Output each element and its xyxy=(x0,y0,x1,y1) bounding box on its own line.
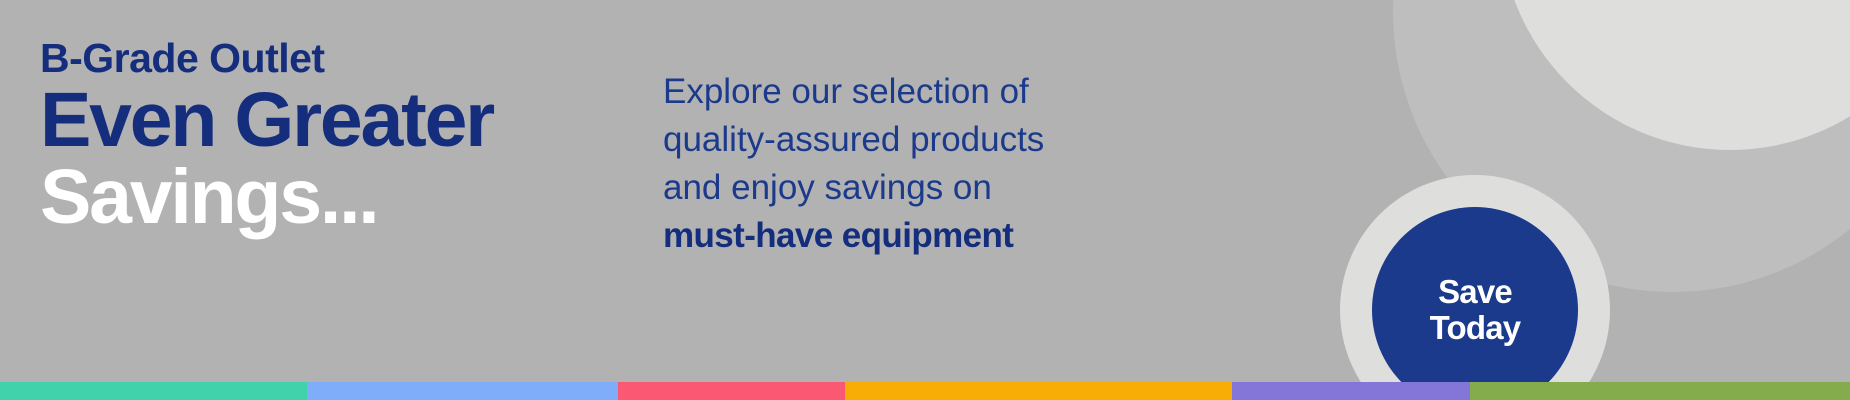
color-bar-segment-pink xyxy=(618,382,845,400)
body-copy-line-1: Explore our selection of xyxy=(663,68,1183,116)
headline-line-1: Even Greater xyxy=(40,83,660,158)
headline-block: B-Grade Outlet Even Greater Savings... xyxy=(40,38,660,237)
color-bar-segment-orange xyxy=(845,382,1232,400)
body-copy-emphasis: must-have equipment xyxy=(663,212,1183,260)
color-bar-segment-purple xyxy=(1232,382,1470,400)
body-copy-line-3: and enjoy savings on xyxy=(663,164,1183,212)
color-bar xyxy=(0,382,1850,400)
color-bar-segment-teal xyxy=(0,382,307,400)
badge-line-2: Today xyxy=(1430,310,1521,346)
headline-line-2: Savings... xyxy=(40,158,660,237)
color-bar-segment-green xyxy=(1470,382,1850,400)
body-copy: Explore our selection of quality-assured… xyxy=(663,68,1183,260)
eyebrow-label: B-Grade Outlet xyxy=(40,38,660,79)
save-today-badge[interactable]: Save Today xyxy=(1372,207,1578,400)
promo-banner: B-Grade Outlet Even Greater Savings... E… xyxy=(0,0,1850,400)
body-copy-line-2: quality-assured products xyxy=(663,116,1183,164)
background-inner-circle-icon xyxy=(1500,0,1850,150)
color-bar-segment-light-blue xyxy=(307,382,618,400)
badge-line-1: Save xyxy=(1438,274,1512,310)
